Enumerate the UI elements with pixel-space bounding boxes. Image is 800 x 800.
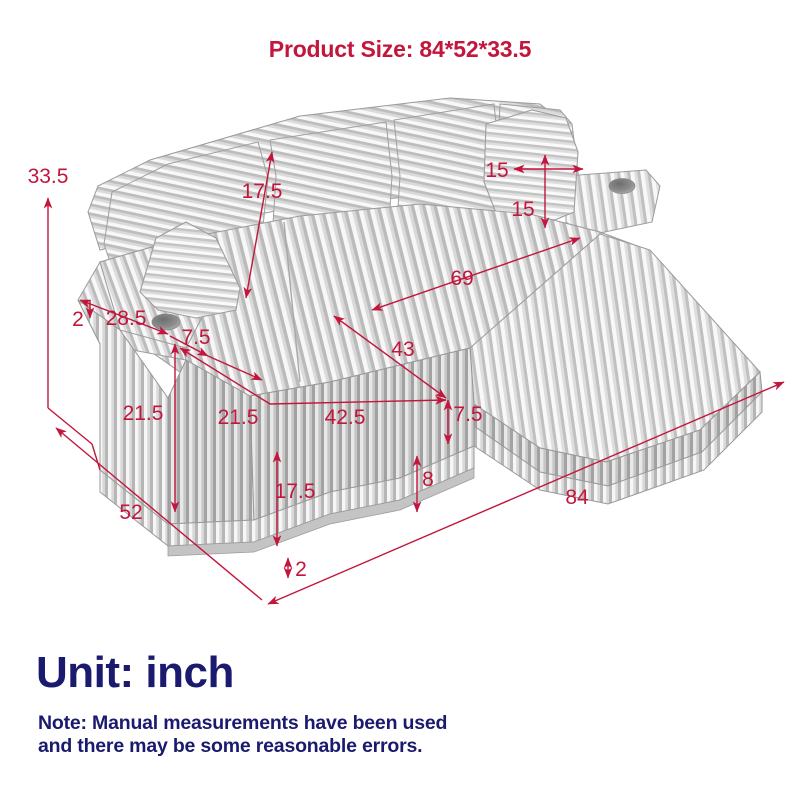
dim-label-backrest-height: 17.5 [242,180,283,203]
dim-label-overall-depth: 52 [119,501,142,524]
dim-label-seat-43: 43 [391,338,414,361]
dim-label-cushion-17-5: 17.5 [275,480,316,503]
dim-label-seat-69: 69 [450,267,473,290]
right-cup-holder [609,179,635,194]
note-line-1: Note: Manual measurements have been used [38,712,447,735]
unit-label: Unit: inch [36,648,234,698]
left-cup-holder [152,314,180,330]
dim-label-overall-height: 33.5 [28,165,69,188]
note-line-2: and there may be some reasonable errors. [38,735,447,758]
right-armrest-top [566,170,660,236]
dim-label-base-trim: 2 [295,558,307,581]
dim-label-pillow-width: 15 [485,159,508,182]
dim-label-armrest-depth: 28.5 [106,307,147,330]
dim-label-overall-width: 84 [565,486,589,509]
dim-label-pillow-height: 15 [511,198,534,221]
dim-label-seat-width-21-5: 21.5 [218,406,259,429]
dim-label-seat-front-height: 7.5 [453,403,482,426]
dim-label-leg-height: 8 [422,468,434,491]
dim-label-arm-height: 21.5 [123,402,164,425]
dimline-overall-height-foot [92,444,100,470]
dim-label-seat-42-5: 42.5 [325,406,366,429]
diagram-canvas: Product Size: 84*52*33.5 [0,0,800,800]
dim-label-armrest-width: 7.5 [181,326,210,349]
dim-label-armrest-thickness: 2 [72,308,84,331]
dimline-overall-height-lower [48,408,92,444]
measurement-note: Note: Manual measurements have been used… [38,712,447,757]
